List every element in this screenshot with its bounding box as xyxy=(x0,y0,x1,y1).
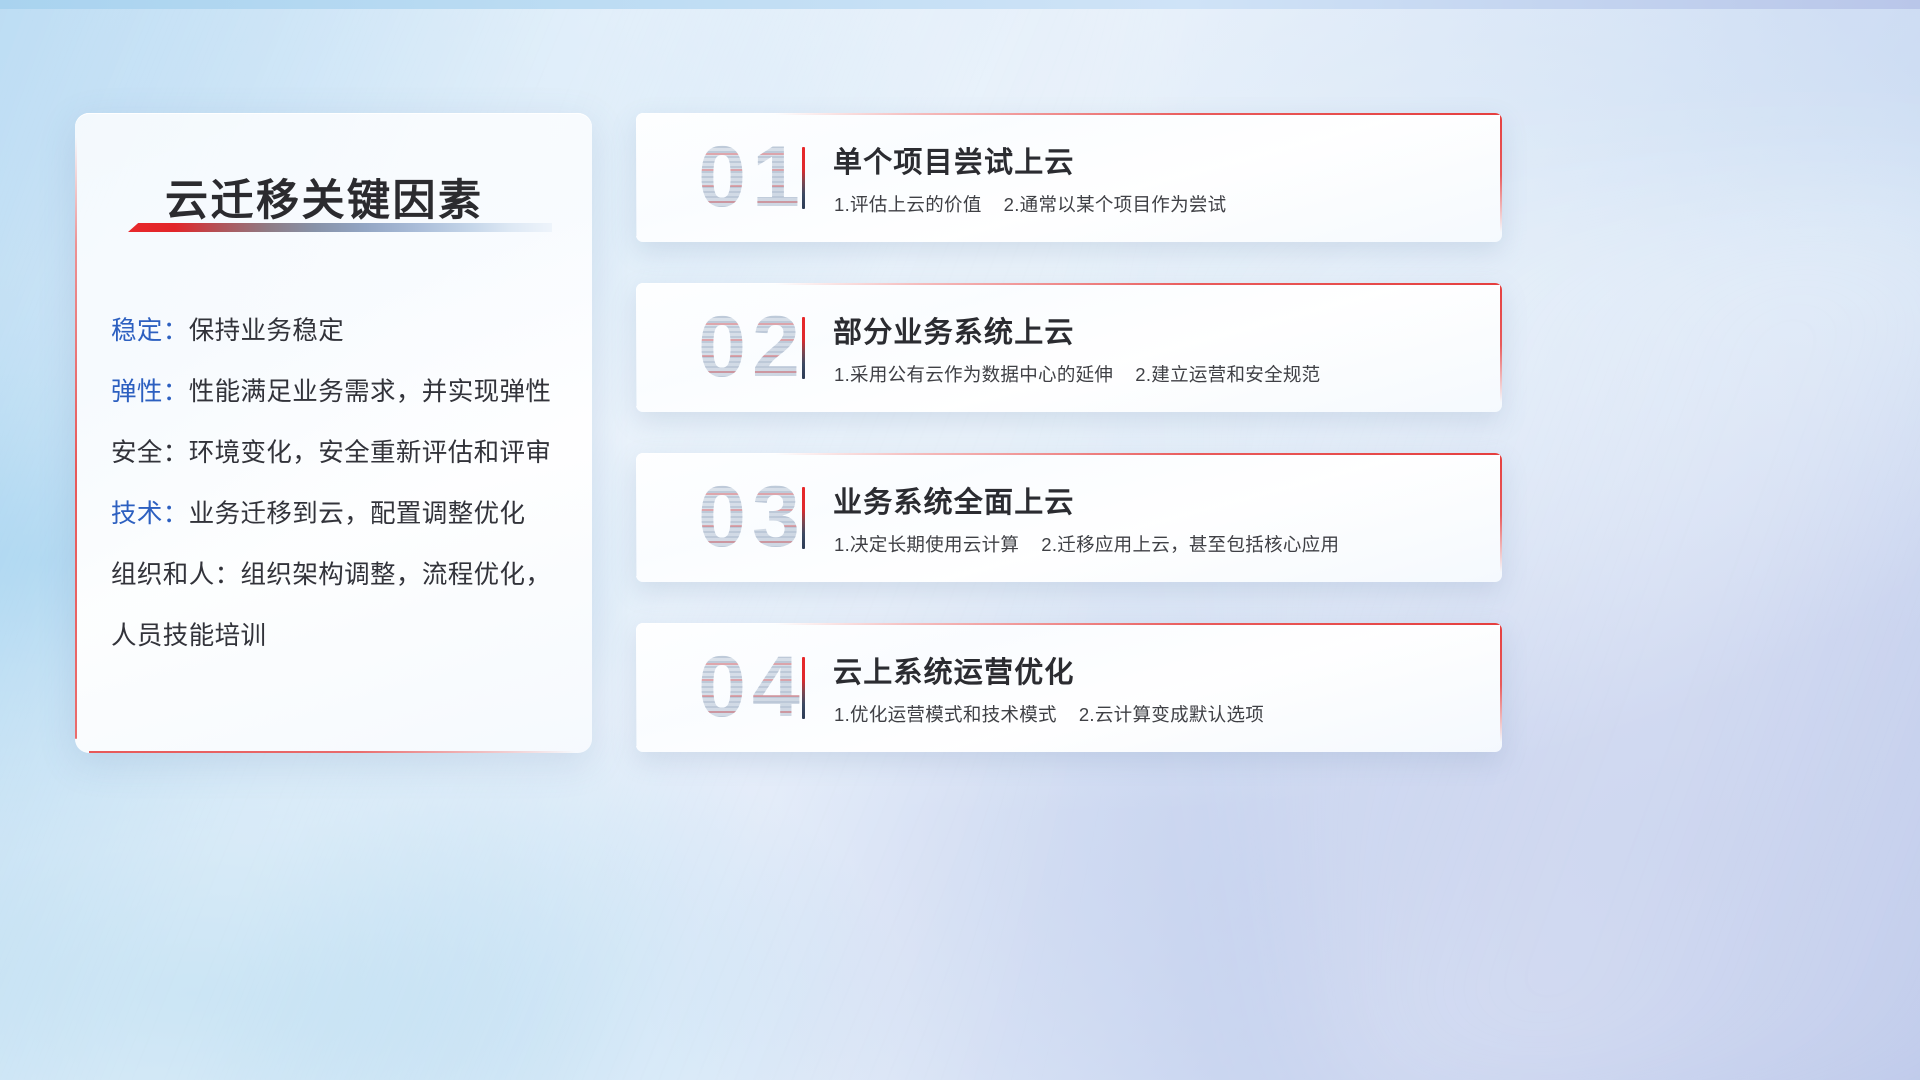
card-description-part-2: 2.迁移应用上云，甚至包括核心应用 xyxy=(1041,534,1339,555)
page-title: 云迁移关键因素 xyxy=(165,166,484,228)
stage-card-02[interactable]: 02 02 部分业务系统上云 1.采用公有云作为数据中心的延伸2.建立运营和安全… xyxy=(636,283,1502,412)
list-item: 弹性：性能满足业务需求，并实现弹性 xyxy=(111,362,546,423)
card-divider-bar xyxy=(802,657,805,719)
list-item-text: 环境变化，安全重新评估和评审 xyxy=(189,439,552,467)
card-top-accent xyxy=(775,623,1502,625)
card-description: 1.采用公有云作为数据中心的延伸2.建立运营和安全规范 xyxy=(834,361,1320,387)
card-title: 云上系统运营优化 xyxy=(833,649,1075,691)
card-right-accent xyxy=(1500,453,1502,572)
list-item-key: 组织和人： xyxy=(111,561,241,589)
card-top-accent xyxy=(775,283,1502,285)
panel-bottom-accent-bar xyxy=(89,751,576,753)
card-description-part-1: 1.采用公有云作为数据中心的延伸 xyxy=(834,364,1113,385)
stage-card-04[interactable]: 04 04 云上系统运营优化 1.优化运营模式和技术模式2.云计算变成默认选项 xyxy=(636,623,1502,752)
migration-stage-card-list: 01 01 单个项目尝试上云 1.评估上云的价值2.通常以某个项目作为尝试 02… xyxy=(636,113,1502,752)
card-number-watermark-red-overlay: 02 xyxy=(662,291,842,403)
list-item-key: 弹性： xyxy=(111,378,189,406)
card-left-highlight xyxy=(636,459,637,576)
card-number-watermark-red-overlay: 04 xyxy=(662,631,842,743)
background-top-strip xyxy=(0,0,1920,9)
list-item-text: 保持业务稳定 xyxy=(189,317,344,345)
list-item-text: 性能满足业务需求，并实现弹性 xyxy=(189,378,552,406)
title-underline-gradient xyxy=(128,223,552,232)
card-description-part-2: 2.云计算变成默认选项 xyxy=(1079,704,1264,725)
key-factors-list: 稳定：保持业务稳定 弹性：性能满足业务需求，并实现弹性 安全：环境变化，安全重新… xyxy=(75,301,592,667)
list-item-text: 人员技能培训 xyxy=(111,622,266,650)
card-top-accent xyxy=(775,113,1502,115)
list-item: 稳定：保持业务稳定 xyxy=(111,301,546,362)
list-item-text: 业务迁移到云，配置调整优化 xyxy=(189,500,526,528)
card-description-part-1: 1.评估上云的价值 xyxy=(834,194,982,215)
card-description: 1.评估上云的价值2.通常以某个项目作为尝试 xyxy=(834,191,1226,217)
card-divider-bar xyxy=(802,147,805,209)
panel-top-highlight xyxy=(75,113,592,114)
card-left-highlight xyxy=(636,289,637,406)
card-divider-bar xyxy=(802,487,805,549)
card-left-highlight xyxy=(636,629,637,746)
list-item-key: 技术： xyxy=(111,500,189,528)
card-divider-bar xyxy=(802,317,805,379)
stage-card-01[interactable]: 01 01 单个项目尝试上云 1.评估上云的价值2.通常以某个项目作为尝试 xyxy=(636,113,1502,242)
list-item-text: 组织架构调整，流程优化， xyxy=(241,561,552,589)
card-title: 单个项目尝试上云 xyxy=(833,139,1075,181)
list-item: 技术：业务迁移到云，配置调整优化 xyxy=(111,484,546,545)
list-item-continuation: 人员技能培训 xyxy=(111,606,546,667)
list-item: 安全：环境变化，安全重新评估和评审 xyxy=(111,423,546,484)
card-description: 1.优化运营模式和技术模式2.云计算变成默认选项 xyxy=(834,701,1264,727)
list-item: 组织和人：组织架构调整，流程优化， xyxy=(111,545,546,606)
list-item-key: 稳定： xyxy=(111,317,189,345)
card-number-watermark-red-overlay: 03 xyxy=(662,461,842,573)
card-right-accent xyxy=(1500,623,1502,742)
key-factors-panel: 云迁移关键因素 稳定：保持业务稳定 弹性：性能满足业务需求，并实现弹性 安全：环… xyxy=(75,113,592,753)
card-top-accent xyxy=(775,453,1502,455)
card-title: 业务系统全面上云 xyxy=(833,479,1075,521)
list-item-key: 安全： xyxy=(111,439,189,467)
card-title: 部分业务系统上云 xyxy=(833,309,1075,351)
card-description-part-2: 2.建立运营和安全规范 xyxy=(1135,364,1320,385)
card-right-accent xyxy=(1500,113,1502,232)
card-description-part-1: 1.决定长期使用云计算 xyxy=(834,534,1019,555)
card-number-watermark-red-overlay: 01 xyxy=(662,121,842,233)
card-description-part-2: 2.通常以某个项目作为尝试 xyxy=(1004,194,1227,215)
stage-card-03[interactable]: 03 03 业务系统全面上云 1.决定长期使用云计算2.迁移应用上云，甚至包括核… xyxy=(636,453,1502,582)
card-description: 1.决定长期使用云计算2.迁移应用上云，甚至包括核心应用 xyxy=(834,531,1339,557)
card-right-accent xyxy=(1500,283,1502,402)
card-description-part-1: 1.优化运营模式和技术模式 xyxy=(834,704,1057,725)
card-left-highlight xyxy=(636,119,637,236)
